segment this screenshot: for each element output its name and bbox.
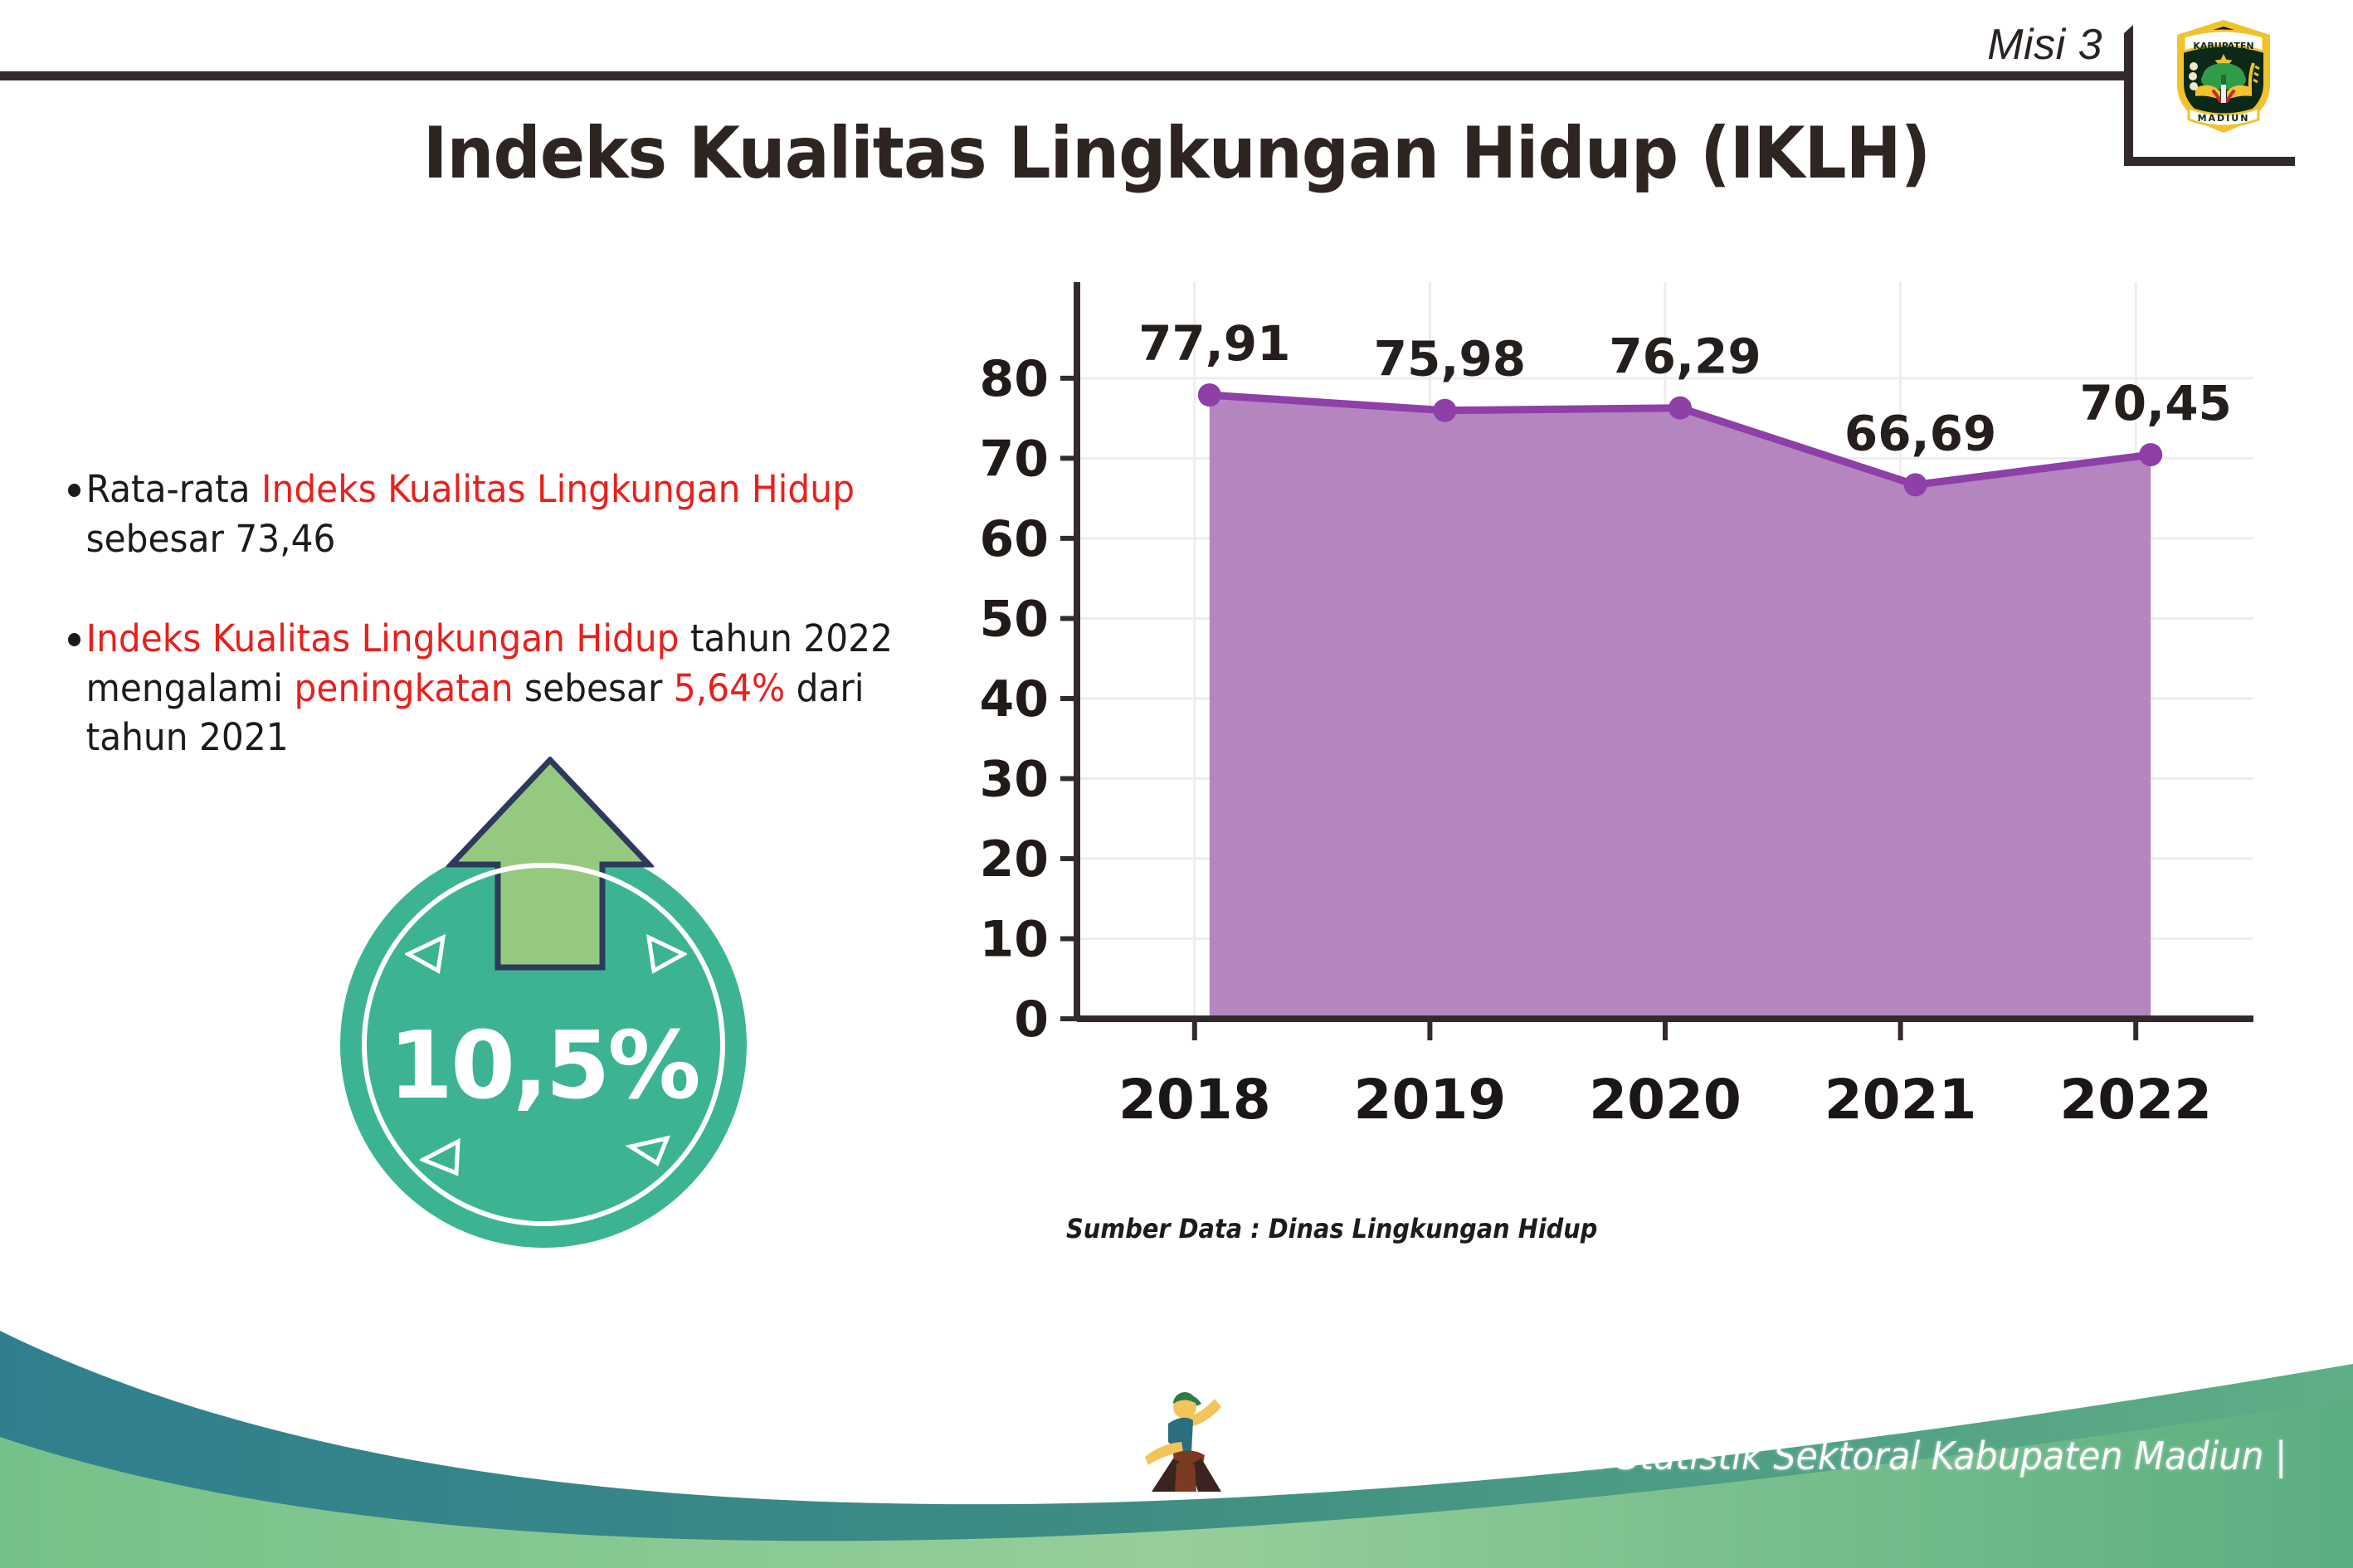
y-axis-tick-label: 30 xyxy=(980,750,1050,808)
page-title: Indeks Kualitas Lingkungan Hidup (IKLH) xyxy=(82,116,2270,191)
bullet-text-1: Indeks Kualitas Lingkungan Hidup tahun 2… xyxy=(86,614,895,763)
x-axis-tick-label: 2020 xyxy=(1589,1068,1742,1132)
iklh-area-chart: 77,9175,9876,2966,6970,45010203040506070… xyxy=(954,282,2282,1211)
chart-data-label: 66,69 xyxy=(1844,405,1996,461)
chart-data-label: 70,45 xyxy=(2079,375,2231,431)
footer-band: Media Infografis Data Statistik Sektoral… xyxy=(0,1294,2353,1568)
x-axis-tick-label: 2018 xyxy=(1118,1068,1271,1132)
chart-data-label: 75,98 xyxy=(1374,331,1526,387)
bullet-item: Indeks Kualitas Lingkungan Hidup tahun 2… xyxy=(68,614,894,763)
bullet-highlight-text: peningkatan xyxy=(295,666,514,710)
bullet-item: Rata-rata Indeks Kualitas Lingkungan Hid… xyxy=(68,465,894,564)
x-axis-tick-label: 2021 xyxy=(1824,1068,1977,1132)
footer-caption-text: Media Infografis Data Statistik Sektoral… xyxy=(1225,1434,2287,1478)
bullet-highlight-text: 5,64% xyxy=(674,666,785,710)
chart-data-label: 76,29 xyxy=(1609,329,1761,385)
y-axis-tick-label: 20 xyxy=(980,830,1050,889)
bullet-text-0: Rata-rata Indeks Kualitas Lingkungan Hid… xyxy=(86,465,895,564)
logo-top-text: KABUPATEN xyxy=(2193,41,2253,51)
statistics-mascot-icon xyxy=(1143,1387,1230,1497)
chart-area-fill xyxy=(1210,395,2151,1019)
chart-data-label: 77,91 xyxy=(1138,315,1290,372)
y-axis-tick-label: 40 xyxy=(980,670,1050,728)
x-axis-tick-label: 2019 xyxy=(1354,1068,1507,1132)
chart-data-point xyxy=(1669,397,1692,420)
y-axis-tick-label: 50 xyxy=(980,590,1050,648)
y-axis-tick-label: 70 xyxy=(980,430,1050,488)
chart-data-point xyxy=(1904,473,1927,496)
y-axis-tick-label: 80 xyxy=(980,350,1050,408)
bullet-plain-text: sebesar xyxy=(514,666,674,710)
bullet-dot-icon xyxy=(68,484,80,497)
bullet-highlight-text: Indeks Kualitas Lingkungan Hidup xyxy=(86,616,680,660)
chart-data-point xyxy=(1198,383,1221,407)
x-axis-tick-label: 2022 xyxy=(2059,1068,2212,1132)
chart-data-point xyxy=(1433,399,1456,422)
misi-label: Misi 3 xyxy=(1987,20,2102,70)
chart-canvas: 77,9175,9876,2966,6970,45010203040506070… xyxy=(954,282,2282,1211)
infographic-slide: Misi 3 KABUPATEN xyxy=(0,0,2353,1568)
y-axis-tick-label: 10 xyxy=(980,910,1050,968)
badge-percent-value: 10,5% xyxy=(340,841,747,1248)
header-divider-rule xyxy=(0,71,2127,80)
bullet-highlight-text: Indeks Kualitas Lingkungan Hidup xyxy=(261,467,855,511)
bullet-plain-text: sebesar 73,46 xyxy=(86,517,336,561)
bullet-dot-icon xyxy=(68,633,80,646)
y-axis-tick-label: 60 xyxy=(980,510,1050,568)
y-axis-tick-label: 0 xyxy=(1014,991,1049,1049)
chart-source-caption: Sumber Data : Dinas Lingkungan Hidup xyxy=(1066,1213,1597,1244)
chart-data-point xyxy=(2139,443,2162,466)
increase-badge: 10,5% xyxy=(325,757,773,1221)
bullet-plain-text: Rata-rata xyxy=(86,467,261,511)
